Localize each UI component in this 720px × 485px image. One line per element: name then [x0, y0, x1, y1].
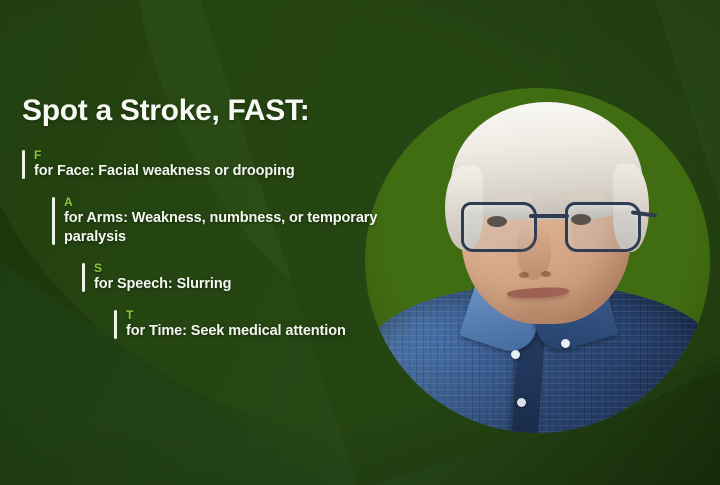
portrait-nostril-left	[519, 272, 529, 278]
fast-item-s: S for Speech: Slurring	[82, 261, 420, 294]
fast-item-a: A for Arms: Weakness, numbness, or tempo…	[52, 195, 420, 247]
fast-letter: A	[64, 195, 420, 209]
fast-description: for Arms: Weakness, numbness, or tempora…	[64, 209, 420, 247]
fast-letter: T	[126, 308, 420, 322]
fast-description: for Speech: Slurring	[94, 275, 420, 294]
fast-acronym-list: F for Face: Facial weakness or drooping …	[0, 148, 420, 355]
fast-description: for Face: Facial weakness or drooping	[34, 162, 420, 181]
portrait-shirt-button	[511, 350, 520, 359]
accent-rule	[114, 310, 117, 339]
stroke-awareness-infographic: Spot a Stroke, FAST: F for Face: Facial …	[0, 0, 720, 485]
portrait-nostril-right	[541, 271, 551, 277]
page-title: Spot a Stroke, FAST:	[22, 94, 309, 128]
accent-rule	[52, 197, 55, 245]
glasses-bridge	[529, 214, 569, 218]
glasses-lens-right	[565, 202, 641, 252]
fast-description: for Time: Seek medical attention	[126, 322, 420, 341]
fast-item-t: T for Time: Seek medical attention	[114, 308, 420, 341]
fast-letter: S	[94, 261, 420, 275]
accent-rule	[82, 263, 85, 292]
accent-rule	[22, 150, 25, 179]
portrait-chin	[497, 302, 583, 330]
fast-item-f: F for Face: Facial weakness or drooping	[22, 148, 420, 181]
fast-letter: F	[34, 148, 420, 162]
portrait-collar-button	[561, 339, 570, 348]
portrait-shirt-button	[517, 398, 526, 407]
